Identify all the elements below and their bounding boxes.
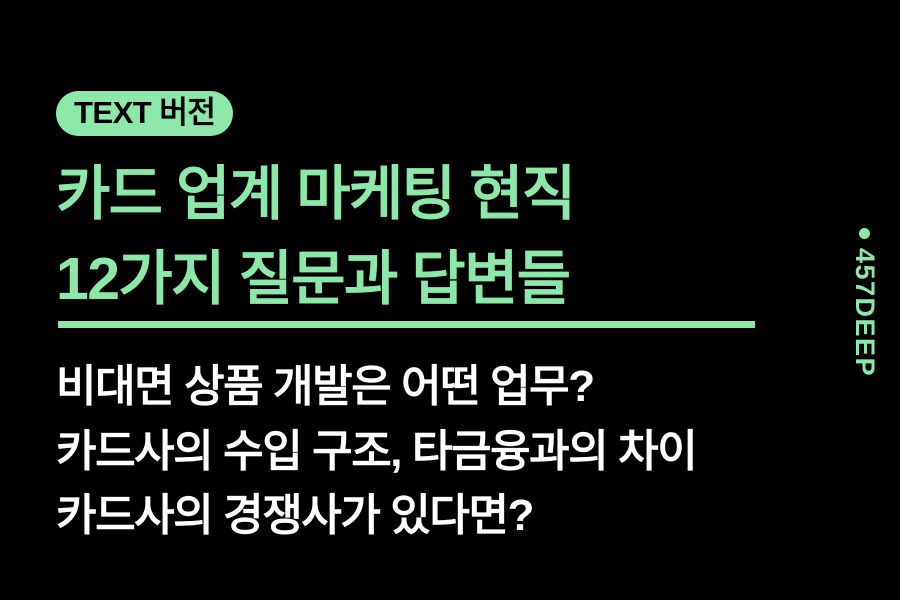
title-block: 카드 업계 마케팅 현직 12가지 질문과 답변들 [56, 152, 796, 322]
subtitle-line-2: 카드사의 수입 구조, 타금융과의 차이 [56, 420, 856, 485]
bullet-dot-icon [859, 228, 870, 239]
title-line-1: 카드 업계 마케팅 현직 [56, 152, 796, 237]
subtitle-line-1: 비대면 상품 개발은 어떤 업무? [56, 355, 856, 420]
text-version-badge: TEXT 버전 [56, 91, 233, 136]
subtitle-line-3: 카드사의 경쟁사가 있다면? [56, 484, 856, 549]
poster-canvas: TEXT 버전 카드 업계 마케팅 현직 12가지 질문과 답변들 비대면 상품… [0, 0, 900, 600]
brand-name-vertical: 457DEEP [851, 248, 878, 377]
title-line-2: 12가지 질문과 답변들 [56, 237, 796, 322]
subtitle-block: 비대면 상품 개발은 어떤 업무? 카드사의 수입 구조, 타금융과의 차이 카… [56, 355, 856, 549]
brand-mark: 457DEEP [851, 228, 878, 377]
horizontal-divider [58, 321, 755, 328]
